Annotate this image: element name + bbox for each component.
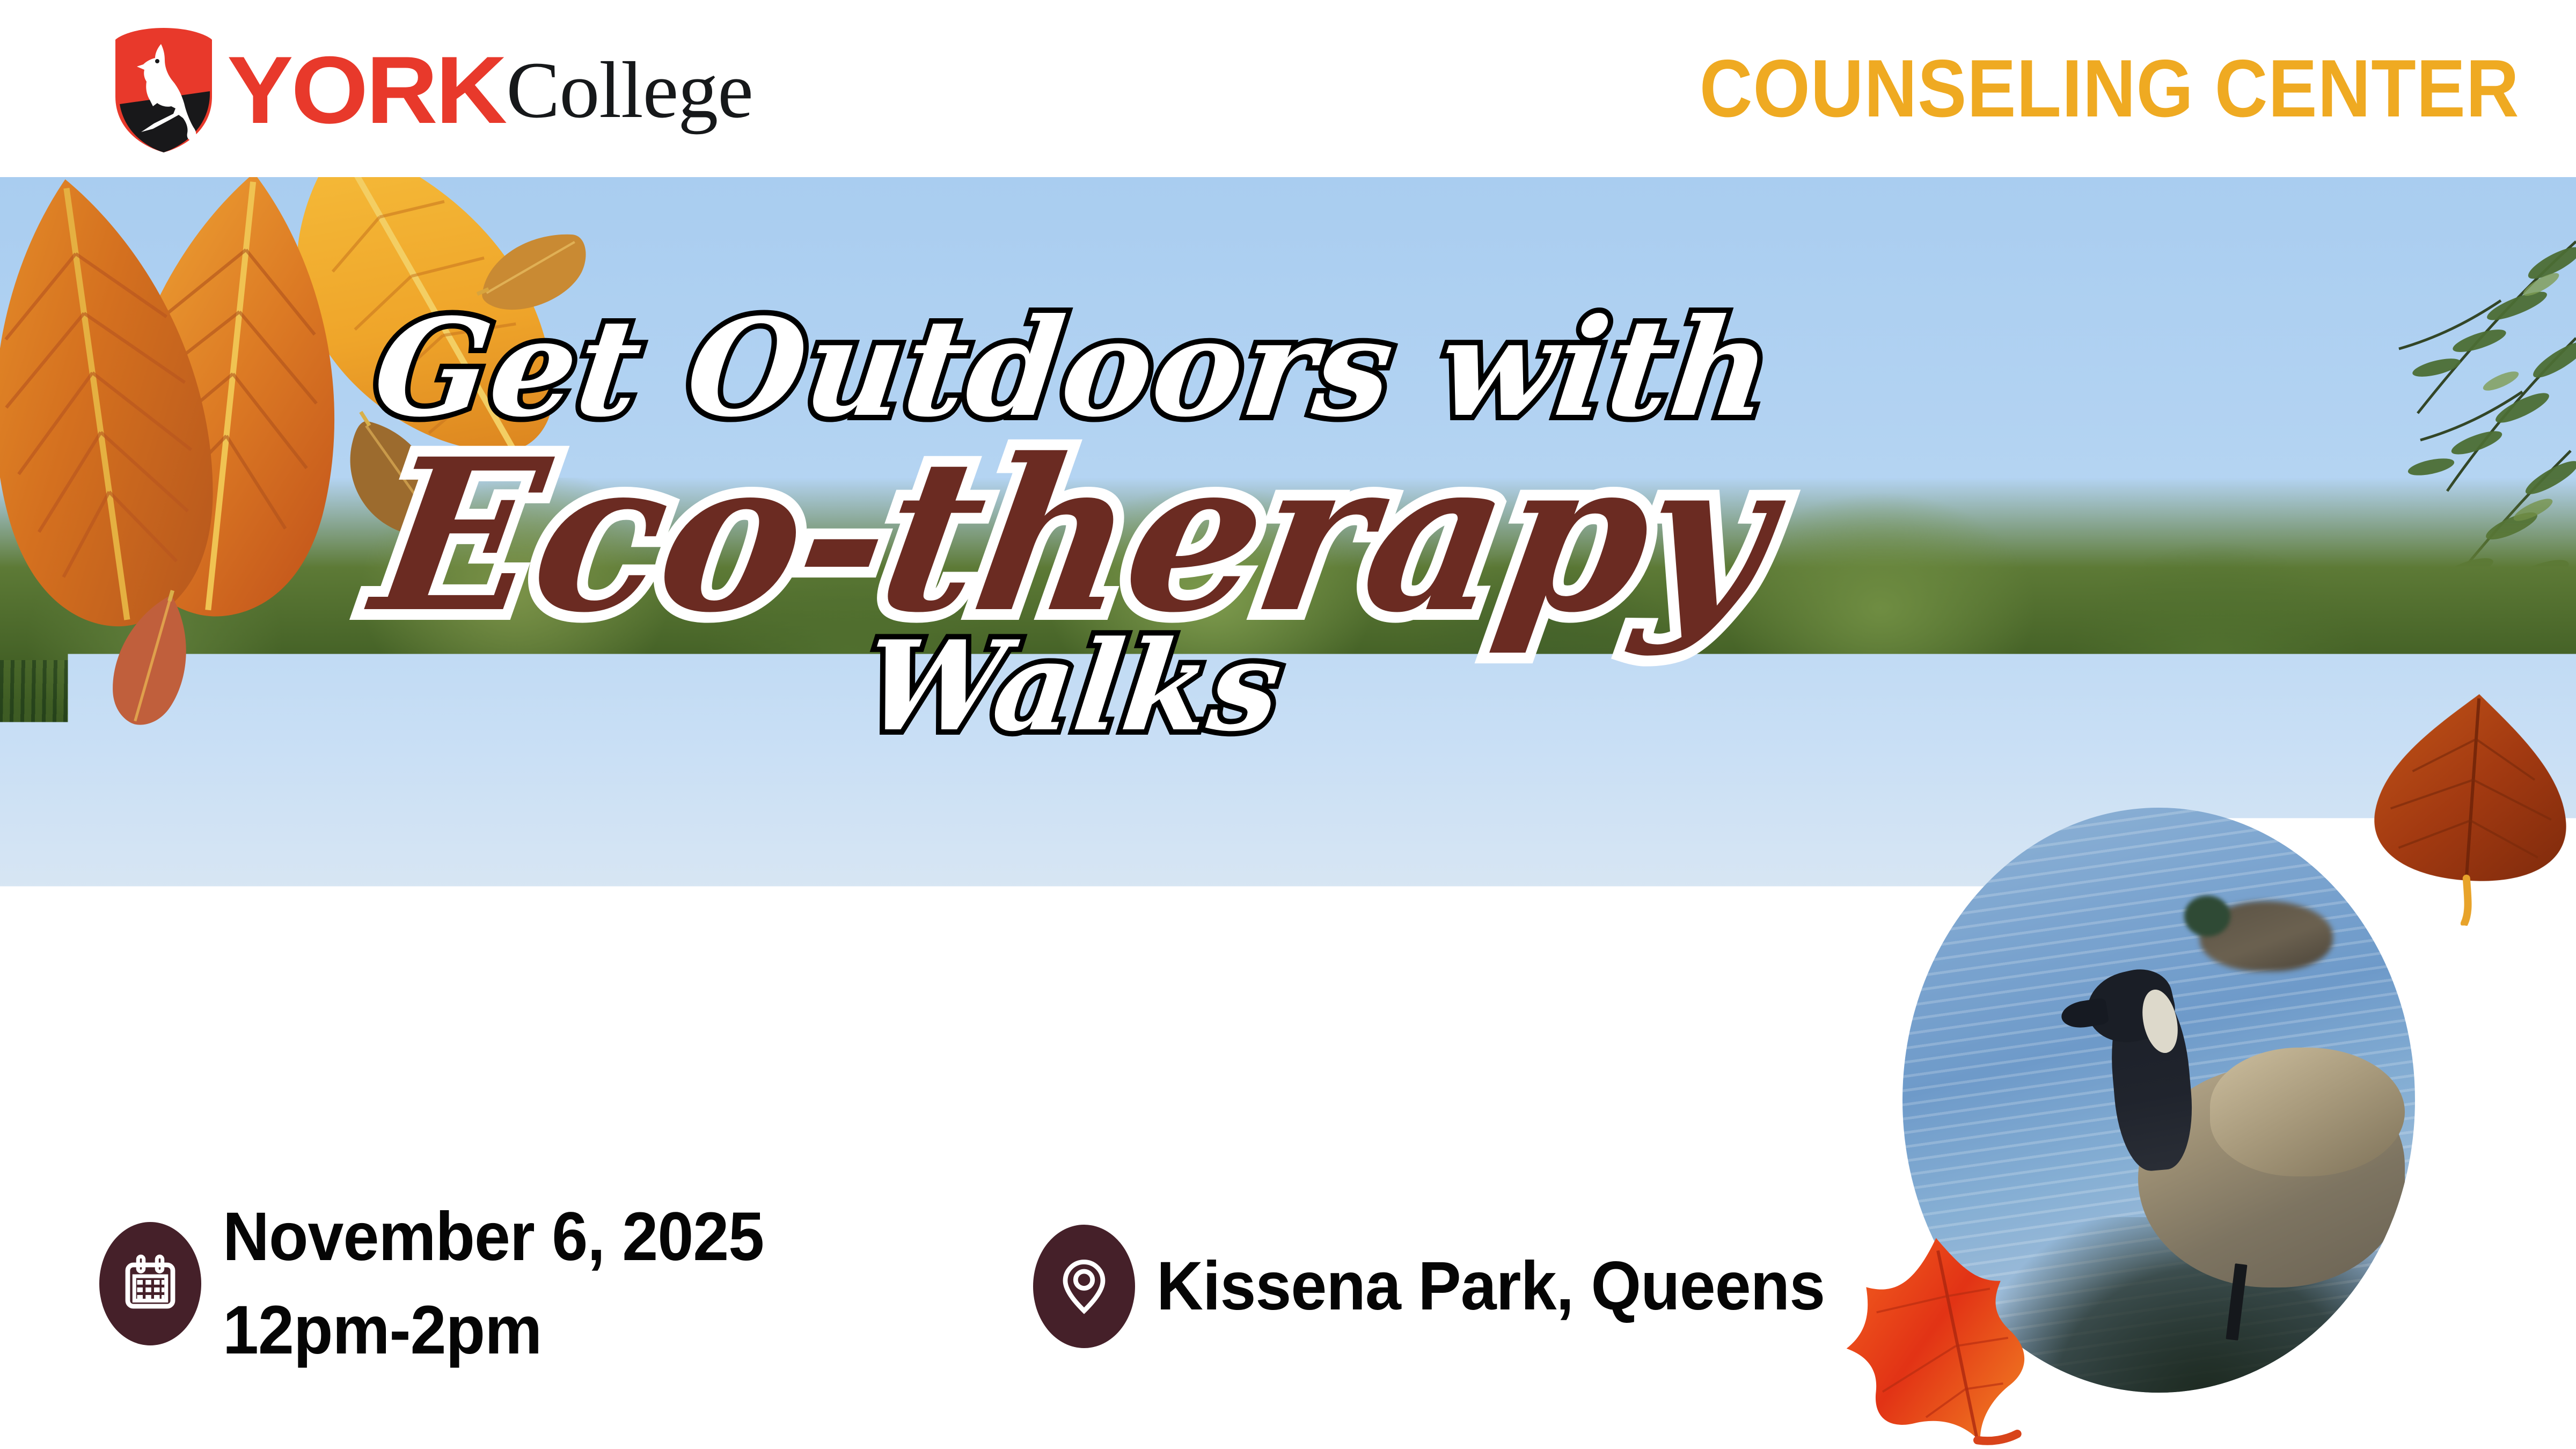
leaf-linden-rust [2361,683,2576,932]
york-college-logo[interactable]: YORK College [115,26,753,155]
department-title: COUNSELING CENTER [1700,42,2520,136]
event-date-block: November 6, 2025 12pm-2pm [99,1190,799,1377]
event-info-bar: November 6, 2025 12pm-2pm Kissena Park, … [0,1100,2576,1449]
event-time-line2: 12pm-2pm [223,1284,764,1377]
page-header: YORK College COUNSELING CENTER [0,0,2576,177]
calendar-icon [120,1254,180,1314]
logo-college-text: College [506,50,753,130]
logo-york-text: YORK [227,42,505,138]
flyer-canvas: Get Outdoors with Eco-therapy Walks [0,0,2576,1449]
event-date-text: November 6, 2025 12pm-2pm [223,1190,764,1377]
map-pin-icon-badge [1033,1225,1135,1348]
event-date-line1: November 6, 2025 [223,1198,764,1275]
event-location-text: Kissena Park, Queens [1157,1240,1825,1333]
calendar-icon-badge [99,1222,201,1345]
map-pin-icon [1054,1256,1114,1316]
event-location-block: Kissena Park, Queens [1033,1225,1868,1348]
york-cardinal-shield-icon [115,28,212,152]
background-duck-head [2184,896,2230,936]
